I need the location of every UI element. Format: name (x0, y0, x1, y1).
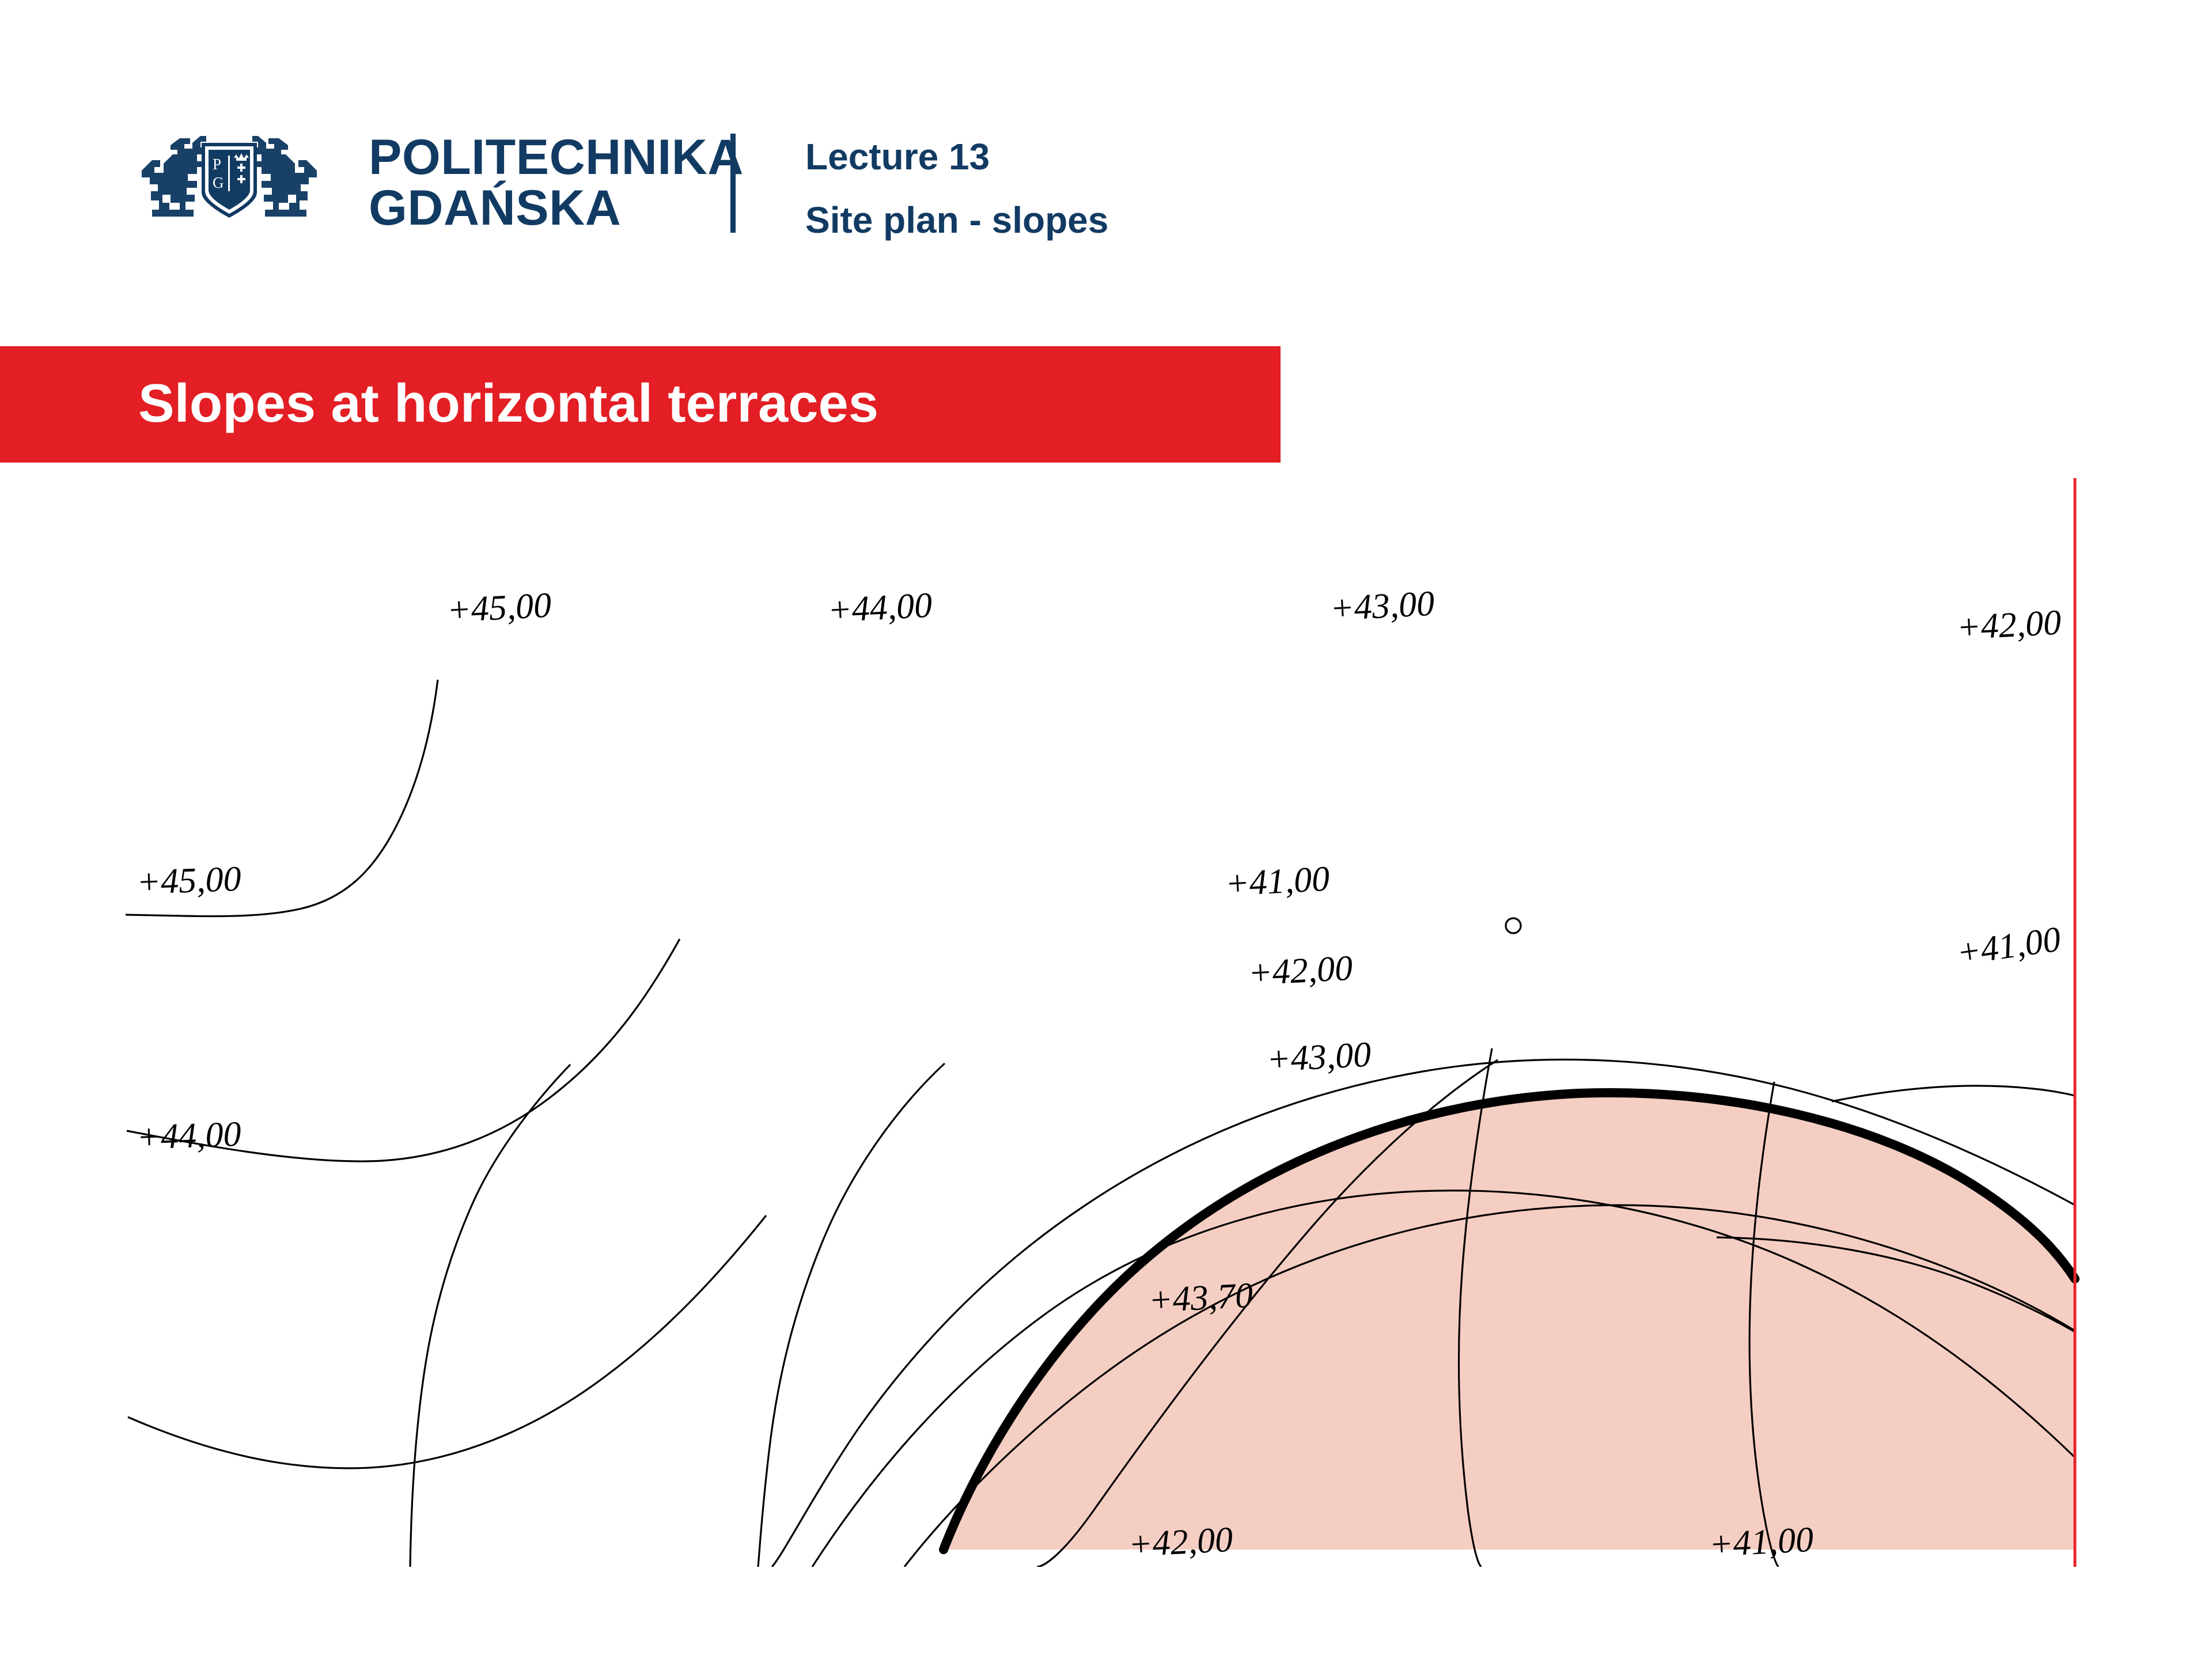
elevation-label: +44,00 (827, 586, 933, 630)
header-vertical-divider (730, 134, 736, 233)
elevation-label: +41,00 (1954, 919, 2063, 973)
contour-line-lower-left-sweep (128, 1215, 766, 1468)
elevation-label: +42,00 (1127, 1520, 1234, 1565)
university-name-line-1: POLITECHNIKA (369, 132, 744, 183)
elevation-label: +41,00 (1708, 1520, 1815, 1565)
university-name-line-2: GDAŃSKA (369, 183, 744, 234)
elevation-label: +41,00 (1224, 859, 1331, 904)
elevation-label: +44,00 (136, 1115, 242, 1157)
contour-node-marker (1506, 918, 1521, 933)
slide-title-banner: Slopes at horizontal terraces (0, 346, 1281, 463)
lecture-number: Lecture 13 (805, 138, 1108, 175)
contour-line-45-upper (410, 1065, 570, 1567)
elevation-label: +45,00 (136, 859, 242, 902)
crest-letter-g: G (213, 174, 224, 191)
university-wordmark: POLITECHNIKA GDAŃSKA (369, 132, 744, 233)
contour-line-42-right-edge (1832, 1086, 2075, 1101)
lecture-info: Lecture 13 Site plan - slopes (805, 138, 1108, 238)
site-plan-contour-diagram: +45,00 +44,00 +43,00 +42,00 +45,00 +41,0… (0, 478, 2212, 1567)
elevation-label: +43,00 (1329, 584, 1435, 628)
slide-header: P G POLITECHNIKA GDAŃSKA Lecture 13 Site… (0, 0, 2212, 346)
slide-title: Slopes at horizontal terraces (138, 376, 878, 430)
contour-line-44-upper (758, 1063, 945, 1567)
politechnika-gdanska-crest-logo: P G (137, 128, 321, 232)
lecture-subject: Site plan - slopes (805, 202, 1108, 238)
elevation-label: +42,00 (1247, 949, 1354, 993)
elevation-label: +43,00 (1266, 1035, 1372, 1080)
elevation-label: +42,00 (1956, 603, 2062, 647)
terrace-elevation-label: +43,70 (1147, 1276, 1254, 1320)
elevation-label: +45,00 (446, 586, 552, 630)
crest-letter-p: P (213, 156, 221, 173)
